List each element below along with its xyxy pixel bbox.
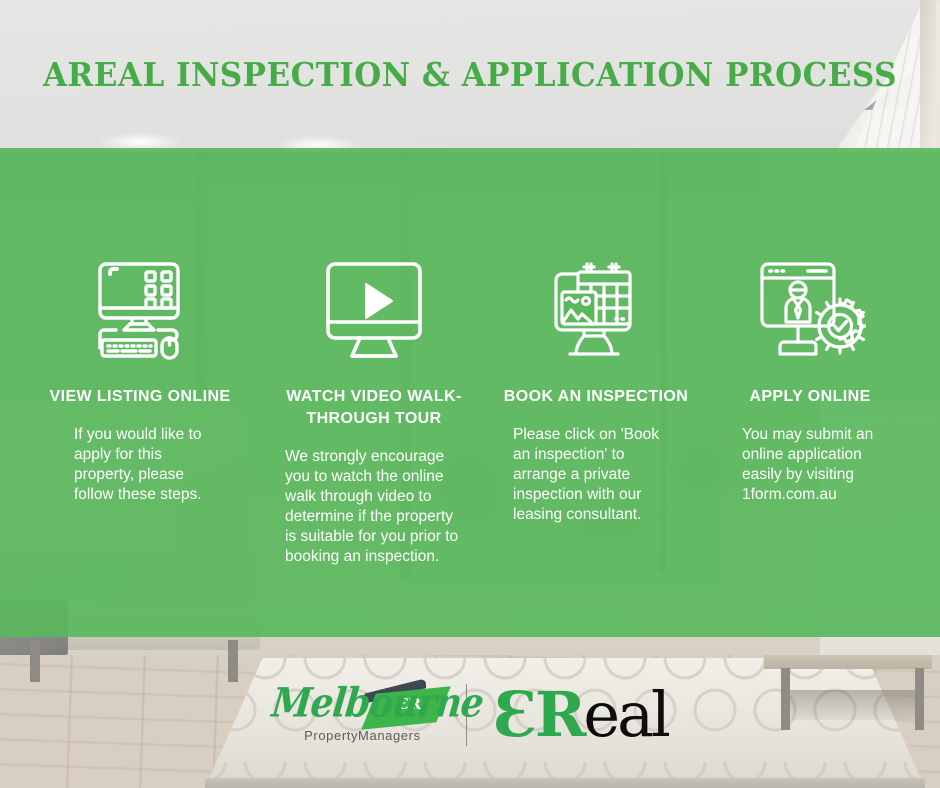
step-heading: Watch Video Walk-through Tour: [258, 386, 490, 430]
footer-logos: ƐR Melbourne PropertyManagers ƐReal: [0, 660, 940, 770]
step-body: Please click on 'Book an inspection' to …: [513, 425, 679, 525]
melbourne-wordmark: Melbourne: [270, 679, 486, 726]
page-title: Areal Inspection & Application Process: [28, 55, 912, 94]
melbourne-property-managers-logo: ƐR Melbourne PropertyManagers: [272, 678, 440, 752]
monitor-calendar-photo-icon: [542, 256, 650, 360]
step-apply-online: Apply Online You may submit an online ap…: [702, 148, 918, 637]
monitor-person-gear-check-icon: [754, 256, 866, 360]
step-watch-video-walkthrough: Watch Video Walk-through Tour We strongl…: [258, 148, 490, 637]
step-book-an-inspection: Book an Inspection Please click on 'Book…: [490, 148, 702, 637]
areal-logo: ƐReal: [493, 684, 668, 746]
monitor-video-play-icon: [320, 256, 428, 360]
areal-logo-prefix: ƐR: [493, 678, 583, 751]
step-body: We strongly encourage you to watch the o…: [285, 447, 463, 567]
step-heading: Book an Inspection: [504, 386, 688, 408]
step-view-listing-online: View Listing Online If you would like to…: [22, 148, 258, 637]
infographic-poster: Areal Inspection & Application Process: [0, 0, 940, 788]
step-heading: Apply Online: [749, 386, 870, 408]
bg-rug-edge: [205, 778, 925, 788]
step-heading: View Listing Online: [50, 386, 231, 408]
step-body: If you would like to apply for this prop…: [74, 425, 206, 505]
desktop-monitor-keyboard-mouse-icon: [88, 256, 192, 360]
step-body: You may submit an online application eas…: [742, 425, 878, 505]
steps-row: View Listing Online If you would like to…: [0, 148, 940, 637]
bg-window-frame: [920, 0, 936, 152]
property-managers-subtitle: PropertyManagers: [304, 728, 421, 743]
areal-logo-suffix: eal: [583, 678, 667, 751]
